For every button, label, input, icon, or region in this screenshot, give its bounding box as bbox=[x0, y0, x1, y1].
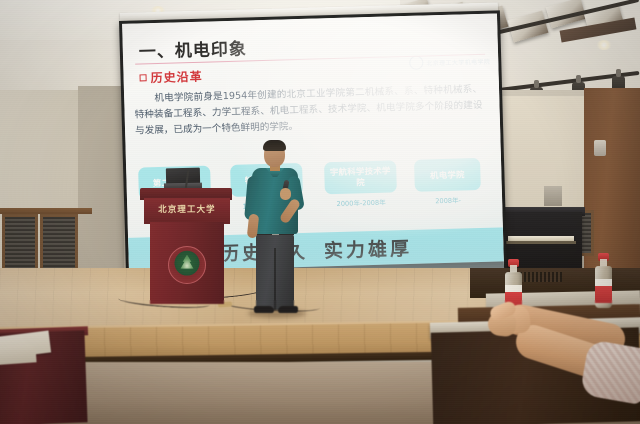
square-bullet-icon bbox=[140, 74, 147, 81]
slide-body-line: 机电学院前身是1954年创建的北京工业学院第二机械系、 bbox=[154, 86, 404, 104]
wall-device bbox=[594, 140, 606, 156]
lecture-hall-photo: 北京理工大学机电学院 一、机电印象 历史沿革 机电学院前身是1954年创建的北京… bbox=[0, 0, 640, 424]
university-logo-icon bbox=[409, 56, 423, 70]
banner-text-right: 实力雄厚 bbox=[324, 233, 413, 262]
paper-documents bbox=[0, 344, 37, 365]
speaker-shoe-right bbox=[278, 306, 298, 313]
timeline-year: 2000年-2008年 bbox=[325, 196, 397, 208]
slide-title: 一、机电印象 bbox=[138, 34, 247, 62]
slide-body-line: 的学院。 bbox=[260, 121, 299, 133]
electrical-panel bbox=[544, 186, 562, 206]
slide-logo-text: 北京理工大学机电学院 bbox=[426, 56, 490, 67]
slide-section-heading: 历史沿革 bbox=[139, 68, 202, 87]
speaker-hair bbox=[263, 140, 286, 151]
university-seal-icon bbox=[168, 246, 206, 284]
podium-university-name: 北京理工大学 bbox=[150, 203, 224, 215]
slide-section-heading-text: 历史沿革 bbox=[150, 68, 202, 86]
audience-member-arms bbox=[470, 282, 640, 424]
patterned-sleeve bbox=[580, 339, 640, 405]
seal-emblem-icon bbox=[178, 255, 196, 273]
timeline-box: 机电学院 bbox=[414, 158, 481, 192]
speaker-shoe-left bbox=[254, 306, 274, 313]
bench-grille bbox=[520, 272, 562, 282]
timeline-box: 宇航科学技术学院 bbox=[324, 160, 397, 194]
piano-key-lip bbox=[506, 241, 576, 244]
speaker-leg-split bbox=[274, 248, 276, 310]
speaker-hand bbox=[280, 188, 291, 200]
downlight bbox=[596, 40, 612, 50]
slide-body-text: 机电学院前身是1954年创建的北京工业学院第二机械系、系、特种机械系、特种装备工… bbox=[134, 82, 483, 140]
timeline-year: 2008年- bbox=[415, 194, 481, 206]
